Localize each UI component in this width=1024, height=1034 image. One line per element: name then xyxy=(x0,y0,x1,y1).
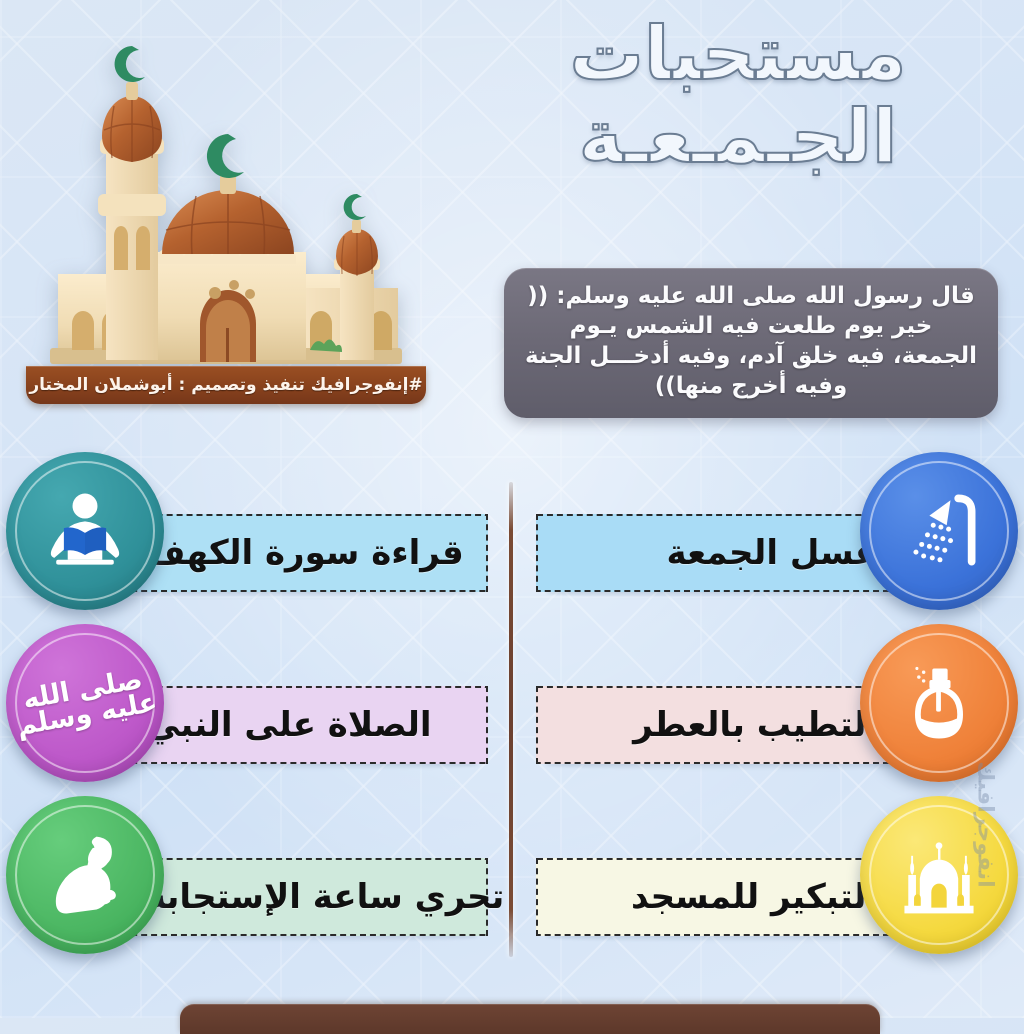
shower-icon xyxy=(891,483,987,579)
salawat-calligraphy-icon: صلى الله عليه وسلم xyxy=(3,665,167,741)
item-label: تحري ساعة الإستجابة xyxy=(146,877,504,917)
credit-text: #إنفوجرافيك تنفيذ وتصميم : أبوشملان المخ… xyxy=(29,375,422,395)
item-label: التبكير للمسجد xyxy=(631,877,878,917)
list-item[interactable]: الصلاة على النبي صلى الله عليه وسلم xyxy=(0,624,500,796)
column-divider xyxy=(509,482,513,957)
item-icon-circle[interactable] xyxy=(6,796,164,954)
title-line-2: الجـمـعـة xyxy=(478,101,998,174)
hadith-quote-box: قال رسول الله صلى الله عليه وسلم: (( خير… xyxy=(504,268,998,418)
person-praying-icon xyxy=(37,827,133,923)
watermark-text: انفوجرافيك xyxy=(972,761,997,887)
page-title: مستحبات الجـمـعـة xyxy=(478,18,998,173)
list-item[interactable]: التبكير للمسجد xyxy=(524,796,1024,968)
item-icon-circle[interactable]: صلى الله عليه وسلم xyxy=(6,624,164,782)
item-label: الصلاة على النبي xyxy=(146,705,432,745)
list-item[interactable]: غسل الجمعة xyxy=(524,452,1024,624)
item-icon-circle[interactable] xyxy=(860,452,1018,610)
list-item[interactable]: التطيب بالعطر xyxy=(524,624,1024,796)
list-item[interactable]: قراءة سورة الكهف xyxy=(0,452,500,624)
item-label: قراءة سورة الكهف xyxy=(146,533,464,573)
infographic-stage: #إنفوجرافيك تنفيذ وتصميم : أبوشملان المخ… xyxy=(0,0,1024,1018)
item-icon-circle[interactable] xyxy=(860,624,1018,782)
hadith-text: قال رسول الله صلى الله عليه وسلم: (( خير… xyxy=(524,282,978,402)
perfume-bottle-icon xyxy=(891,655,987,751)
item-label: غسل الجمعة xyxy=(666,533,878,573)
right-column: غسل الجمعة التطيب بالعطر xyxy=(524,452,1024,968)
mosque-illustration xyxy=(10,6,450,386)
item-label: التطيب بالعطر xyxy=(633,705,878,745)
left-column: قراءة سورة الكهف الصلاة على النبي صلى ال… xyxy=(0,452,500,968)
title-line-1: مستحبات xyxy=(478,18,998,91)
item-icon-circle[interactable] xyxy=(6,452,164,610)
bottom-bar xyxy=(180,1004,880,1034)
person-reading-icon xyxy=(37,483,133,579)
credit-banner: #إنفوجرافيك تنفيذ وتصميم : أبوشملان المخ… xyxy=(26,366,426,404)
list-item[interactable]: تحري ساعة الإستجابة xyxy=(0,796,500,968)
